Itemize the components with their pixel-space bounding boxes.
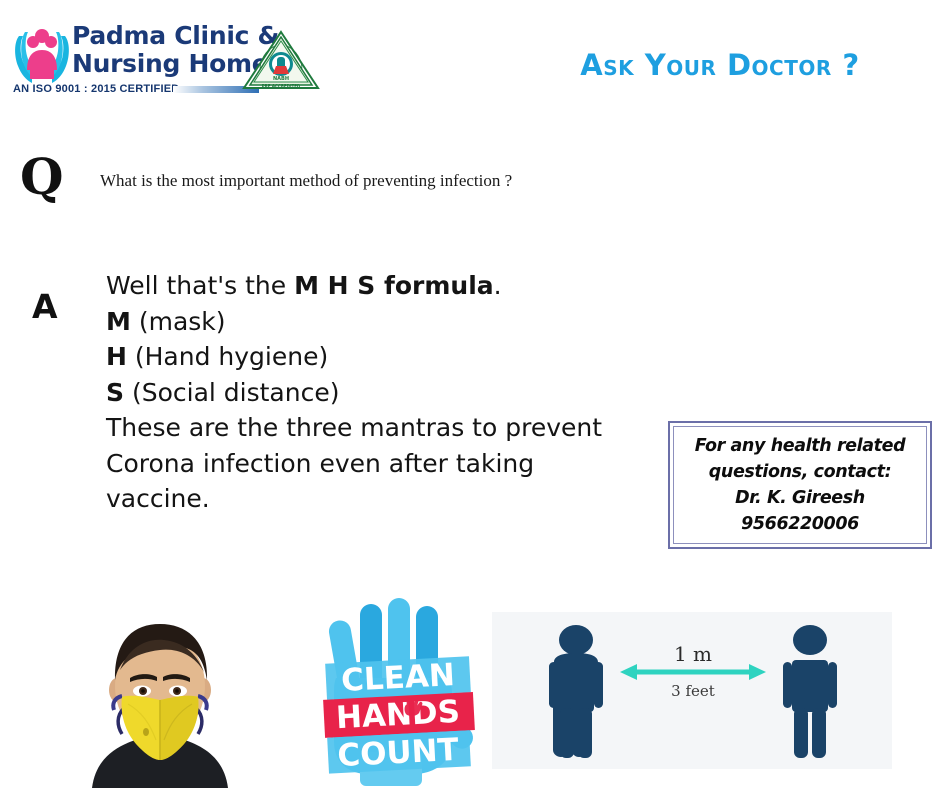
hands-cradling-family-logo-icon [13,26,71,88]
contact-line-1: For any health related [695,433,905,459]
contact-doctor-name: Dr. K. Gireesh [735,485,865,511]
clinic-name-line2: Nursing Home [72,50,257,78]
page-header: Padma Clinic & Nursing Home AN ISO 9001 … [0,0,940,118]
clean-hands-count-hand-icon: CLEAN HANDS COUNT [298,592,486,788]
iso-certification-text: AN ISO 9001 : 2015 CERTIFIED [13,83,179,95]
nabh-triangle-badge-icon: NABH PRE ACCREDITED [242,30,320,92]
answer-line-1: M (mask) [106,304,626,340]
svg-text:CLEAN: CLEAN [340,657,455,699]
question-marker: Q [20,152,64,202]
man-wearing-yellow-n95-mask-photo [62,604,258,788]
svg-text:3 feet: 3 feet [671,682,715,700]
answer-line-3: S (Social distance) [106,375,626,411]
page-title: Ask Your Doctor ? [520,48,920,82]
svg-text:COUNT: COUNT [337,732,460,774]
svg-text:HANDS: HANDS [335,694,461,736]
question-text: What is the most important method of pre… [100,170,640,192]
answer-paragraph: These are the three mantras to prevent C… [106,410,626,517]
bottom-imagery-row: CLEAN HANDS COUNT [0,592,940,788]
social-distance-two-people-icon: 1 m 3 feet [492,612,892,769]
clinic-name: Padma Clinic & Nursing Home [72,22,257,78]
answer-marker: A [32,290,58,323]
answer-line-0: Well that's the M H S formula. [106,268,626,304]
clinic-name-line1: Padma Clinic & [72,22,257,50]
contact-box: For any health related questions, contac… [668,421,932,549]
contact-line-2: questions, contact: [709,459,891,485]
contact-box-inner: For any health related questions, contac… [673,426,927,544]
iso-certification-row: AN ISO 9001 : 2015 CERTIFIED [13,83,258,97]
svg-text:PRE ACCREDITED: PRE ACCREDITED [262,84,301,89]
contact-phone-number: 9566220006 [741,511,859,537]
svg-text:1 m: 1 m [674,642,712,666]
answer-line-2: H (Hand hygiene) [106,339,626,375]
svg-text:NABH: NABH [273,76,289,82]
answer-text: Well that's the M H S formula. M (mask) … [106,268,626,517]
